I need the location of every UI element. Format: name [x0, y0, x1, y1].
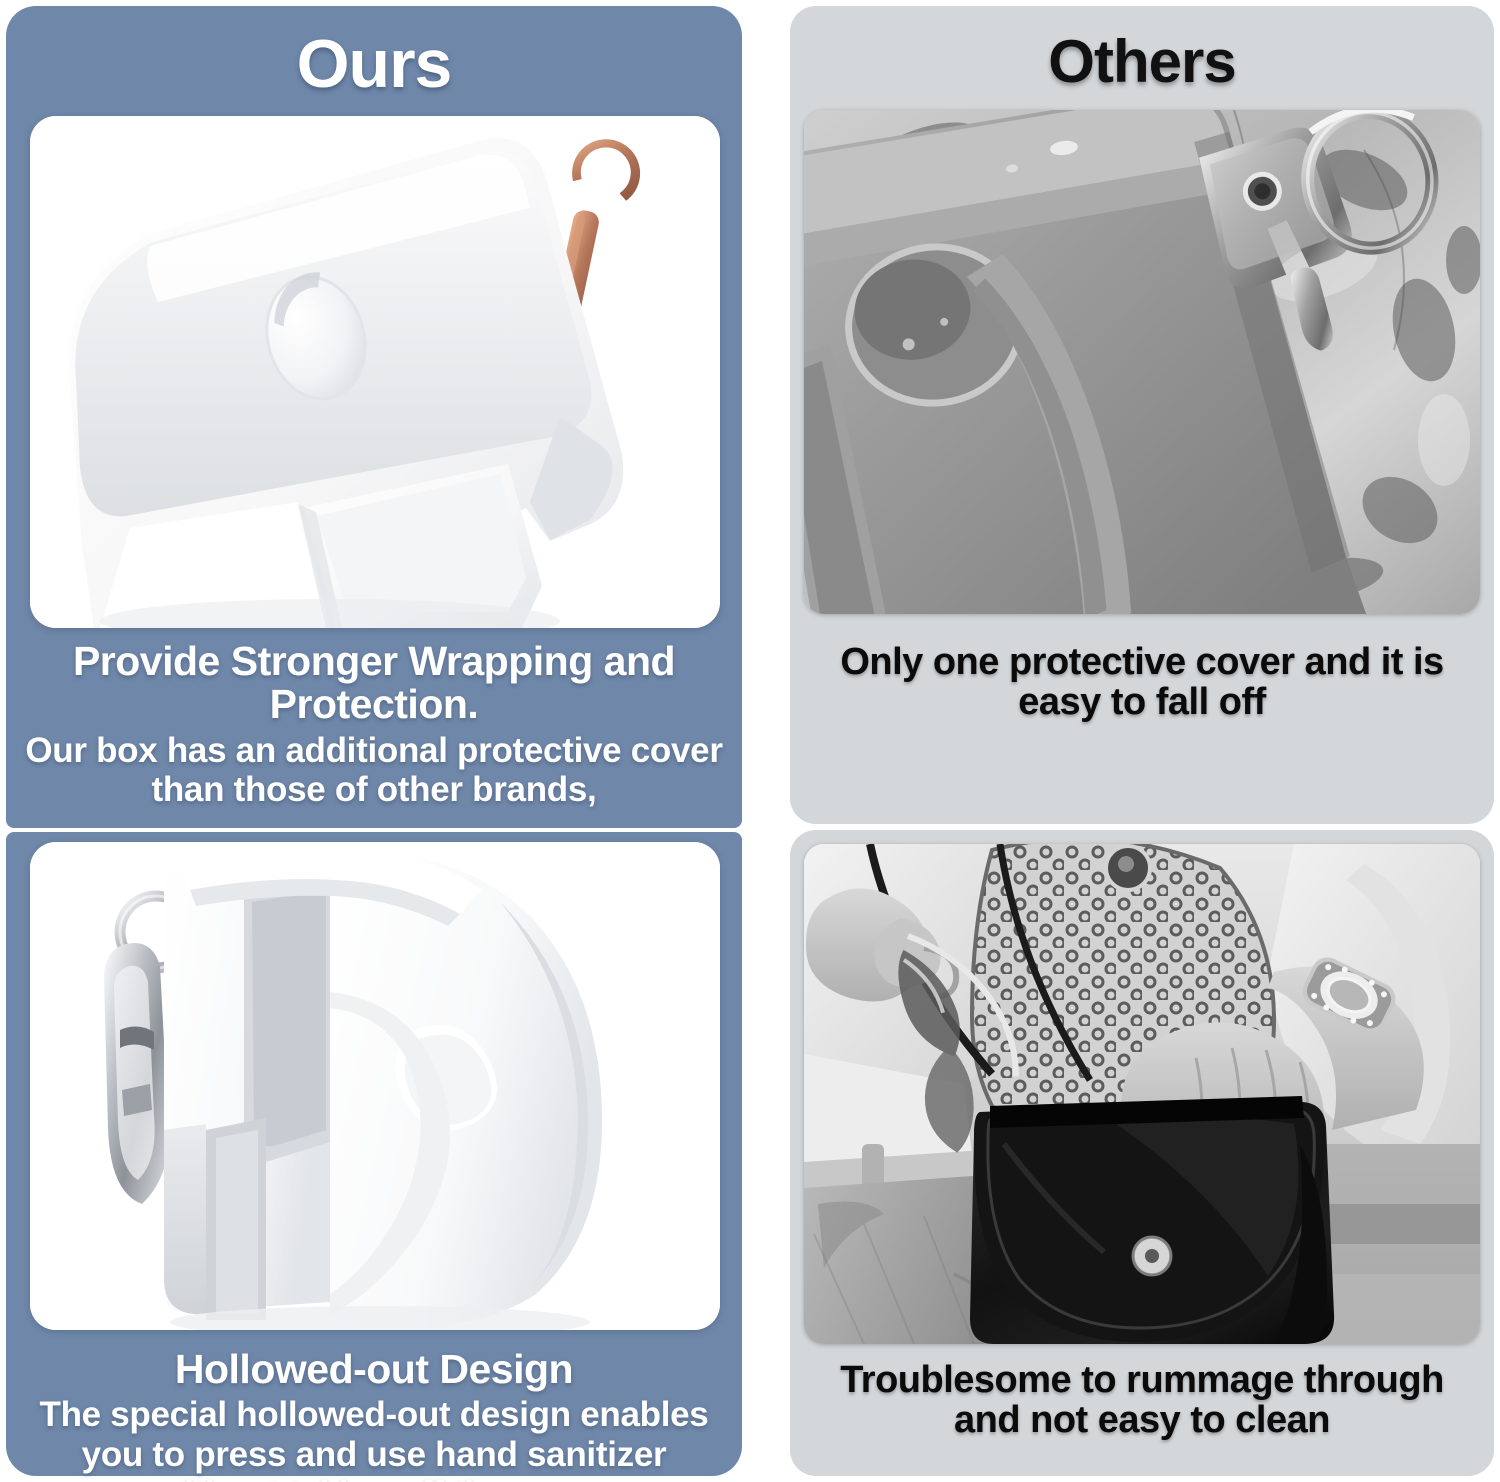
- ours-top-panel: Ours: [6, 6, 742, 828]
- others-bottom-panel: Troublesome to rummage through and not e…: [790, 830, 1494, 1476]
- comparison-infographic: Ours: [0, 0, 1500, 1482]
- others-top-panel: Others: [790, 6, 1494, 824]
- ours-caption-1-headline: Provide Stronger Wrapping and Protection…: [22, 640, 726, 727]
- others-caption-1-headline: Only one protective cover and it is easy…: [814, 642, 1470, 723]
- ours-caption-1: Provide Stronger Wrapping and Protection…: [6, 640, 742, 809]
- person-rummaging-handbag-photo: [804, 844, 1480, 1344]
- others-caption-2: Troublesome to rummage through and not e…: [790, 1360, 1494, 1441]
- ours-column-header: Ours: [6, 30, 742, 98]
- others-column-header: Others: [790, 32, 1494, 92]
- competitor-case-on-marble-photo: [804, 110, 1480, 614]
- others-caption-1: Only one protective cover and it is easy…: [790, 642, 1494, 723]
- ours-caption-1-body: Our box has an additional protective cov…: [22, 731, 726, 809]
- ours-caption-2-headline: Hollowed-out Design: [18, 1348, 730, 1391]
- white-sanitizer-case-closeup-photo: [30, 116, 720, 628]
- others-caption-2-headline: Troublesome to rummage through and not e…: [808, 1360, 1476, 1441]
- ours-caption-2: Hollowed-out Design The special hollowed…: [6, 1348, 742, 1482]
- ours-bottom-panel: Hollowed-out Design The special hollowed…: [6, 832, 742, 1476]
- ours-caption-2-body: The special hollowed-out design enables …: [18, 1395, 730, 1482]
- white-case-hollowed-side-view-photo: [30, 842, 720, 1330]
